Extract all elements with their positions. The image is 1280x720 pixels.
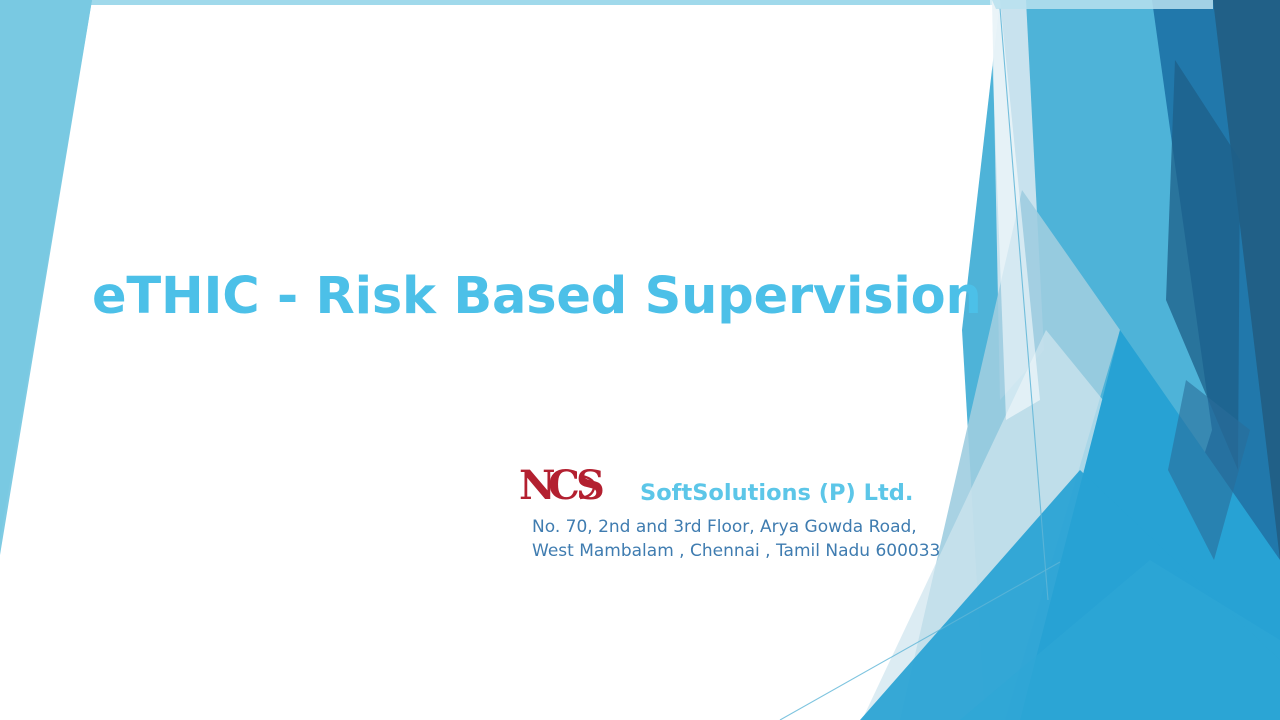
company-logo-block: N C S SoftSolutions (P) Ltd. No. 70, 2nd… [520, 466, 940, 563]
address-line-2: West Mambalam , Chennai , Tamil Nadu 600… [532, 539, 940, 563]
svg-text:C: C [548, 466, 578, 508]
company-address: No. 70, 2nd and 3rd Floor, Arya Gowda Ro… [532, 515, 940, 563]
slide-content: eTHIC - Risk Based Supervision N C S Sof… [0, 0, 1280, 720]
logo-row: N C S SoftSolutions (P) Ltd. [520, 466, 940, 508]
presentation-slide: eTHIC - Risk Based Supervision N C S Sof… [0, 0, 1280, 720]
address-line-1: No. 70, 2nd and 3rd Floor, Arya Gowda Ro… [532, 515, 940, 539]
company-name-label: SoftSolutions (P) Ltd. [640, 482, 913, 509]
ncs-logo-icon: N C S [520, 466, 624, 508]
svg-text:S: S [576, 466, 605, 508]
page-title: eTHIC - Risk Based Supervision [92, 268, 952, 327]
